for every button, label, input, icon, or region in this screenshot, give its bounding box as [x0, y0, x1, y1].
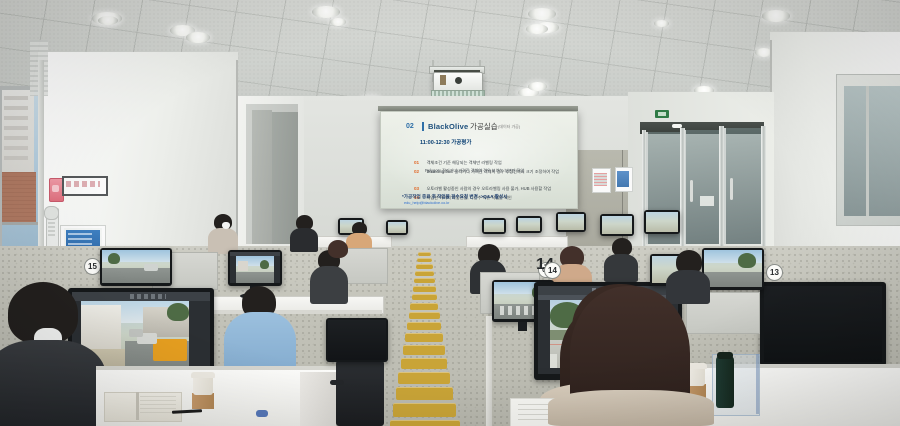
paper-coffee-cup[interactable] — [193, 375, 213, 395]
slide-bullet-number: 02 — [414, 169, 419, 174]
station-number-13: 13 — [766, 264, 783, 281]
tactile-block — [413, 286, 436, 292]
slide-bullet: 04 작업한 이미지 자동전송, 다건수 이슈 작업분 확인 — [414, 186, 568, 194]
wall-phone-keypad[interactable] — [48, 222, 55, 236]
chair-armrest — [330, 380, 344, 385]
tactile-block — [396, 387, 453, 400]
door-handle[interactable] — [730, 178, 733, 200]
notice-poster-image — [617, 171, 629, 187]
left-door-panel — [252, 110, 272, 244]
monitor-screen-far — [602, 216, 632, 234]
face-mask — [222, 222, 230, 229]
person-torso — [666, 270, 710, 304]
monitor-rear-back — [328, 320, 386, 360]
ceiling-downlight — [528, 8, 556, 20]
exterior-building-window — [4, 156, 28, 160]
canvas-car — [144, 264, 158, 271]
canvas-car — [129, 329, 143, 337]
tactile-block — [398, 372, 450, 384]
ceiling-downlight — [762, 10, 790, 22]
tactile-block — [417, 258, 432, 262]
slide-bullet: 02 Bounding box: 잘리거나 가려진 객체의 경우 추정선까지 크… — [414, 160, 568, 168]
tactile-block — [415, 271, 434, 276]
tactile-block — [414, 278, 435, 283]
exterior-brick-wall — [2, 172, 36, 224]
monitor-screen-far — [558, 214, 584, 230]
door-handle[interactable] — [690, 180, 693, 202]
canvas-building — [238, 261, 248, 271]
slide-footer-note: *가공작업 종료 후 작업물 검수요청 변경 ->Q&A 활성시 — [402, 194, 572, 200]
person-torso — [290, 228, 318, 252]
station-number-15: 15 — [84, 258, 101, 275]
canvas-tree — [167, 303, 189, 321]
green-tumbler[interactable] — [716, 356, 734, 408]
person-torso — [310, 266, 348, 304]
desk-edge — [96, 366, 336, 370]
ceiling-downlight — [330, 18, 346, 26]
tactile-block — [412, 294, 437, 300]
tactile-block — [405, 333, 443, 342]
monitor-screen-station-15-top — [102, 250, 170, 283]
station-number-14-tag: 14 — [544, 262, 561, 279]
canvas-road — [236, 272, 274, 283]
monitor-screen-far — [388, 222, 406, 233]
slide-bullet: 01 객체조건 기준 해당되는 객체만 라벨링 작업 — [414, 151, 564, 159]
annotation-canvas — [236, 256, 274, 283]
classroom-photo-scene: 02 BlackOlive 가공실습 (데이터 가공) 11:00-12:30 … — [0, 0, 900, 426]
slide-subtitle: 11:00-12:30 가공평가 — [420, 140, 471, 147]
wall-phone-handset[interactable] — [44, 206, 59, 220]
person-torso-foreground-left — [0, 340, 106, 426]
tactile-block — [410, 303, 438, 310]
ceiling-downlight — [186, 32, 210, 43]
desk-divider-right — [486, 316, 492, 426]
left-corridor-shadow — [272, 112, 298, 244]
acrylic-divider-edge — [756, 354, 759, 414]
left-column — [38, 52, 238, 252]
monitor-screen-far — [484, 220, 504, 232]
app-toolbar-buttons[interactable] — [130, 294, 166, 299]
canvas-road — [102, 268, 170, 283]
slide-title-ko: 가공실습 — [470, 122, 498, 131]
tactile-block — [416, 264, 433, 269]
exit-sign-glyph — [658, 112, 666, 116]
tactile-block — [390, 420, 460, 426]
exterior-building-window — [4, 96, 28, 100]
ceiling-downlight — [528, 82, 547, 91]
monitor-screen-far — [518, 218, 540, 231]
notebook-ruled-lines — [140, 396, 176, 416]
exterior-building-window — [4, 116, 28, 120]
office-chair-foreground — [336, 358, 384, 426]
notice-poster-lines — [594, 173, 607, 186]
window-mullion — [2, 222, 38, 225]
app-right-panel — [189, 301, 210, 374]
door-ceiling-light — [672, 124, 682, 128]
tactile-block — [418, 252, 431, 256]
monitor-screen-mid-left — [230, 252, 280, 283]
person-torso — [604, 254, 638, 282]
coffee-cup-sleeve — [192, 393, 214, 409]
door-mullion — [719, 126, 724, 246]
monitor-screen-far — [646, 212, 678, 232]
door-notice-sticker — [700, 196, 714, 206]
desk-edge — [196, 310, 382, 314]
canvas-tree — [260, 260, 269, 269]
ceiling-downlight — [312, 6, 340, 18]
tumbler-lid[interactable] — [717, 352, 733, 359]
monitor-station-13-back — [764, 286, 882, 362]
right-far-window-mullion — [866, 86, 869, 216]
tactile-block — [401, 358, 447, 369]
coffee-cup-lid — [191, 372, 215, 378]
slide-title-suffix: (데이터 가공) — [498, 124, 520, 130]
slide-section-number: 02 — [406, 122, 414, 131]
ceiling-downlight — [526, 24, 548, 34]
right-far-window-glass — [844, 86, 900, 216]
slide-footer-email: edu_help@blackolive.co.kr — [404, 201, 449, 206]
tactile-block — [409, 312, 440, 319]
canvas-tree — [738, 253, 756, 268]
poster-inner-text — [68, 233, 92, 245]
exterior-building-window — [4, 126, 28, 130]
app-right-panel — [274, 256, 280, 283]
app-left-sidebar — [538, 300, 550, 374]
ceiling-downlight — [98, 16, 118, 25]
slide-title-rule — [422, 122, 424, 131]
person-head — [328, 240, 348, 258]
monitor-stand — [518, 322, 527, 331]
door-mullion — [761, 126, 766, 246]
notebook-spine — [136, 392, 139, 420]
door-mullion — [680, 128, 685, 246]
exterior-building-window — [4, 136, 28, 140]
slide-bullet-sub: Polygon: 잘리거나 가려진 객체의 경우 보이는 부분만 작업 — [425, 168, 567, 174]
tactile-block — [393, 403, 456, 417]
projector-lens — [455, 77, 462, 84]
exterior-building-window — [4, 146, 28, 150]
desk-sticker — [256, 410, 268, 417]
exterior-building-window — [4, 106, 28, 110]
ceiling-downlight — [654, 20, 669, 27]
canvas-taxi — [153, 339, 187, 361]
monitor-screen-mid-right-2 — [704, 250, 762, 287]
tactile-path — [396, 250, 456, 426]
canvas-building-left — [81, 305, 121, 351]
canvas-road — [704, 272, 762, 287]
tactile-block — [407, 322, 441, 330]
person-torso-foreground-right — [548, 390, 714, 426]
projector-detail — [440, 75, 446, 85]
canvas-tree — [108, 253, 120, 264]
slide-title-en: BlackOlive — [428, 122, 468, 131]
fire-alarm-button[interactable] — [52, 185, 59, 192]
tactile-block — [403, 345, 445, 355]
slide-bullet: 03 오토라벨 활성중인 사람의 경우 오토라벨링 사용 불가, HUB 사용할… — [414, 177, 568, 185]
framed-sign-text — [66, 181, 100, 187]
